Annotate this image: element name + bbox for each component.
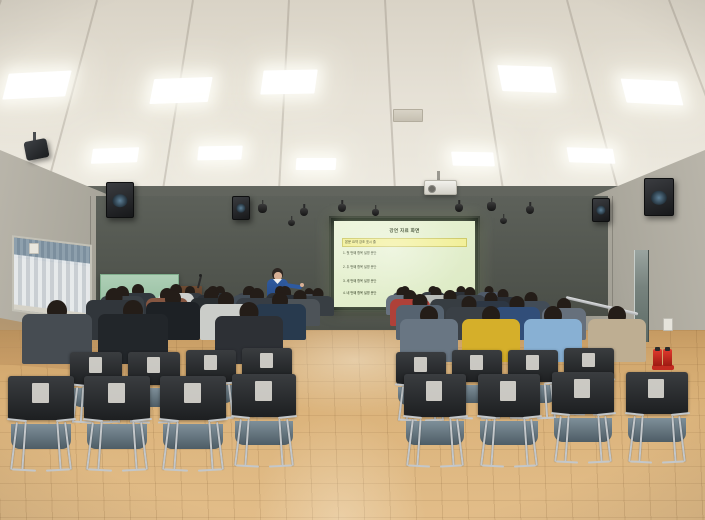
chair-label-tag xyxy=(414,357,427,372)
chair xyxy=(232,374,296,468)
chair-foot-rail xyxy=(46,468,70,471)
chair xyxy=(8,376,74,472)
ceiling-light xyxy=(621,79,684,106)
chair-label-tag xyxy=(184,383,201,403)
spotlight-head-icon xyxy=(526,206,534,214)
ceiling-light xyxy=(260,70,318,95)
speaker-cone-icon xyxy=(112,194,127,208)
chair xyxy=(478,374,540,468)
fire-extinguisher xyxy=(652,344,674,370)
ceiling-projector xyxy=(424,180,457,195)
chair-label-tag xyxy=(89,357,103,372)
slide-highlight-box: 본문 요약 강조 표시 줄 xyxy=(342,238,467,247)
ceiling-light xyxy=(451,152,495,167)
spotlight xyxy=(300,204,308,214)
chair-label-tag xyxy=(32,383,49,403)
extinguisher-tank xyxy=(663,349,672,366)
slide-bullet: 3. 세 번째 항목 설명 문단 xyxy=(343,279,468,283)
chair-backrest xyxy=(626,372,688,414)
spotlight xyxy=(338,200,346,210)
spotlight xyxy=(288,216,295,224)
chair-armrest xyxy=(449,415,468,419)
wall-joint xyxy=(612,196,613,324)
microphone-head-icon xyxy=(199,274,202,277)
chair-label-tag xyxy=(526,355,539,370)
chair-backrest xyxy=(232,374,296,417)
spotlight-head-icon xyxy=(487,202,496,211)
chair-foot-rail xyxy=(556,460,578,463)
chair-label-tag xyxy=(204,355,217,370)
chair xyxy=(552,372,614,464)
chair-foot-rail xyxy=(236,464,259,467)
chair-label-tag xyxy=(648,379,664,398)
chair xyxy=(84,376,150,472)
speaker-cone-icon xyxy=(651,191,667,205)
chair-label-tag xyxy=(574,379,590,398)
pa-speaker-left-far xyxy=(232,196,250,220)
chair-seat xyxy=(406,421,463,445)
wall-outlet-plate xyxy=(29,243,39,254)
extinguisher-valve xyxy=(665,347,670,351)
ceiling-light xyxy=(197,146,243,161)
chair-seat xyxy=(628,418,685,442)
chair-foot-rail xyxy=(408,464,430,467)
spotlight-head-icon xyxy=(258,204,267,213)
slide-bullet: 1. 첫 번째 항목 설명 문단 xyxy=(343,251,468,255)
auditorium-photo: 강연 자료 화면 본문 요약 강조 표시 줄 1. 첫 번째 항목 설명 문단 … xyxy=(0,0,705,520)
extinguisher-valve xyxy=(655,347,660,351)
chair-foot-rail xyxy=(662,460,684,463)
chair-foot-rail xyxy=(122,468,146,471)
pa-speaker-left xyxy=(106,182,134,218)
chair-seat xyxy=(480,421,537,445)
ceiling-light xyxy=(567,147,616,164)
chair xyxy=(404,374,466,468)
ceiling-light xyxy=(296,158,337,170)
chair-backrest xyxy=(478,374,540,417)
chair xyxy=(626,372,688,464)
chair-label-tag xyxy=(582,353,595,367)
ceiling-light xyxy=(497,65,556,93)
spotlight xyxy=(526,202,534,212)
spotlight-head-icon xyxy=(338,204,346,212)
chair-seat xyxy=(235,421,294,445)
ceiling-light xyxy=(149,77,212,104)
chair-label-tag xyxy=(426,381,442,401)
chair-backrest xyxy=(84,376,150,420)
chair-foot-rail xyxy=(269,464,292,467)
wall-light-switch[interactable] xyxy=(663,318,673,331)
chair-backrest xyxy=(160,376,226,420)
chair-seat xyxy=(554,418,611,442)
chair xyxy=(160,376,226,472)
spotlight-head-icon xyxy=(455,204,463,212)
speaker-cone-icon xyxy=(236,204,245,213)
chair-armrest xyxy=(671,412,690,416)
chair-armrest xyxy=(523,415,542,419)
slide-bullet: 2. 두 번째 항목 설명 문단 xyxy=(343,265,468,269)
chair-label-tag xyxy=(255,381,272,401)
chair-armrest xyxy=(597,412,616,416)
ceiling-light xyxy=(91,147,139,164)
chair-label-tag xyxy=(147,357,161,372)
chair-foot-rail xyxy=(588,460,610,463)
speaker-cone-icon xyxy=(596,206,605,215)
extinguisher-tank xyxy=(653,349,662,366)
spotlight-head-icon xyxy=(300,208,308,216)
ceiling-vent-icon xyxy=(393,109,423,122)
chair-foot-rail xyxy=(440,464,462,467)
chair-label-tag xyxy=(108,383,125,403)
spotlight-head-icon xyxy=(372,209,379,216)
chair-label-tag xyxy=(470,355,483,370)
spotlight xyxy=(372,205,379,214)
chair-foot-rail xyxy=(482,464,504,467)
ceiling-light xyxy=(2,70,71,99)
chair-backrest xyxy=(404,374,466,417)
spotlight xyxy=(258,200,267,211)
chair-foot-rail xyxy=(164,468,188,471)
spotlight xyxy=(455,200,463,210)
pa-speaker-right-far xyxy=(592,198,610,222)
chair-seat xyxy=(11,424,72,449)
chair-foot-rail xyxy=(88,468,112,471)
pa-speaker-right xyxy=(644,178,674,216)
chair-foot-rail xyxy=(630,460,652,463)
spotlight xyxy=(500,214,507,222)
chair-foot-rail xyxy=(514,464,536,467)
chair-foot-rail xyxy=(198,468,222,471)
chair-foot-rail xyxy=(12,468,36,471)
chair-backrest xyxy=(552,372,614,414)
spotlight xyxy=(487,198,496,209)
chair-seat xyxy=(87,424,148,449)
chair-label-tag xyxy=(500,381,516,401)
chair-label-tag xyxy=(260,353,273,368)
projector-lens-icon xyxy=(428,185,436,193)
chair-seat xyxy=(163,424,224,449)
slide-title: 강연 자료 화면 xyxy=(334,228,475,234)
chair-backrest xyxy=(8,376,74,420)
